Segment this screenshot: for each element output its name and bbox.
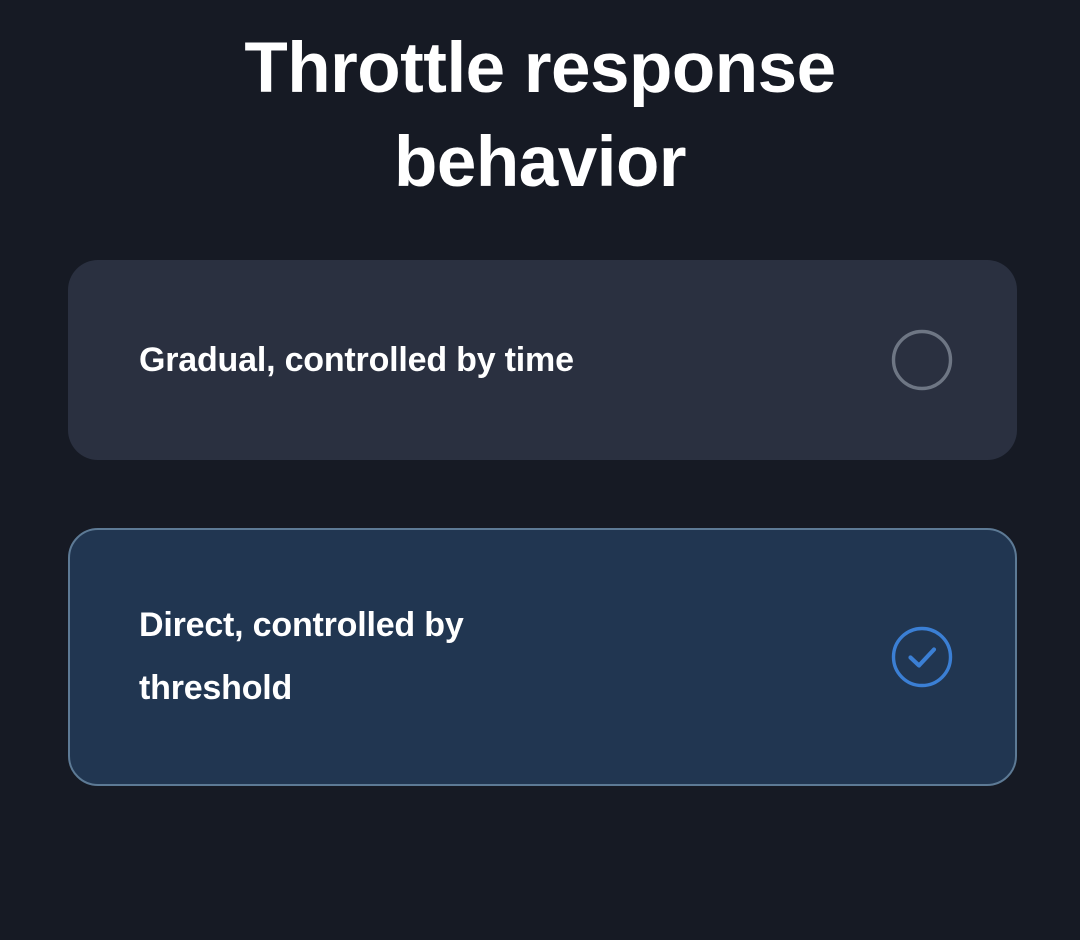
- page-title: Throttle response behavior: [0, 0, 1080, 210]
- option-card-direct-controlled-by-threshold[interactable]: Direct, controlled by threshold: [68, 528, 1017, 786]
- option-label: Direct, controlled by threshold: [139, 594, 464, 720]
- options-list: Gradual, controlled by time Direct, cont…: [0, 260, 1080, 786]
- option-label: Gradual, controlled by time: [139, 329, 574, 392]
- option-card-gradual-controlled-by-time[interactable]: Gradual, controlled by time: [68, 260, 1017, 460]
- radio-unchecked-icon[interactable]: [891, 329, 953, 391]
- question-screen: Throttle response behavior Gradual, cont…: [0, 0, 1080, 940]
- check-circle-icon[interactable]: [891, 626, 953, 688]
